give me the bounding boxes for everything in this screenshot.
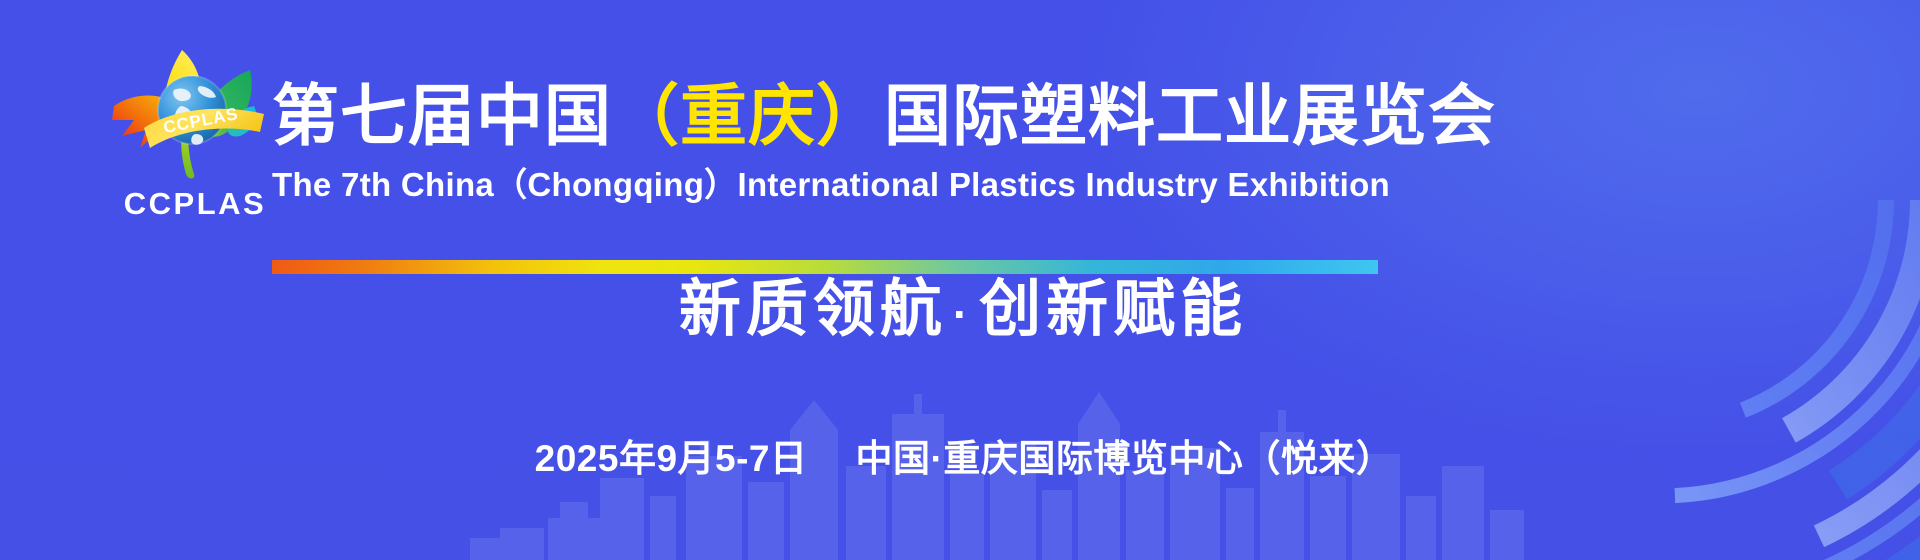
title-block: 第七届中国（重庆）国际塑料工业展览会 The 7th China（Chongqi…	[272, 82, 1392, 206]
footer-info: 2025年9月5-7日中国·重庆国际博览中心（悦来）	[0, 428, 1920, 482]
slogan-right: 创新赋能	[979, 275, 1247, 344]
logo-wordmark: CCPLAS	[104, 188, 286, 219]
slogan-separator-dot: ·	[947, 288, 979, 340]
title-cn-part1: 第七届中国	[272, 79, 612, 154]
title-chinese: 第七届中国（重庆）国际塑料工业展览会	[272, 82, 1392, 152]
title-cn-highlight: （重庆）	[612, 79, 884, 154]
title-english: The 7th China（Chongqing）International Pl…	[272, 158, 1392, 206]
ccplas-leaf-globe-icon: CCPLAS	[104, 44, 286, 186]
slogan-left: 新质领航	[679, 275, 947, 344]
event-date: 2025年9月5-7日	[535, 438, 808, 479]
title-cn-part2: 国际塑料工业展览会	[884, 79, 1496, 154]
slogan: 新质领航·创新赋能	[0, 258, 1920, 348]
exhibition-banner: CCPLAS CCPLAS 第七届中国（重庆）国际塑料工业展览会 The 7th…	[0, 0, 1920, 560]
event-venue: 中国·重庆国际博览中心（悦来）	[856, 438, 1394, 479]
logo-block: CCPLAS CCPLAS	[104, 44, 286, 234]
